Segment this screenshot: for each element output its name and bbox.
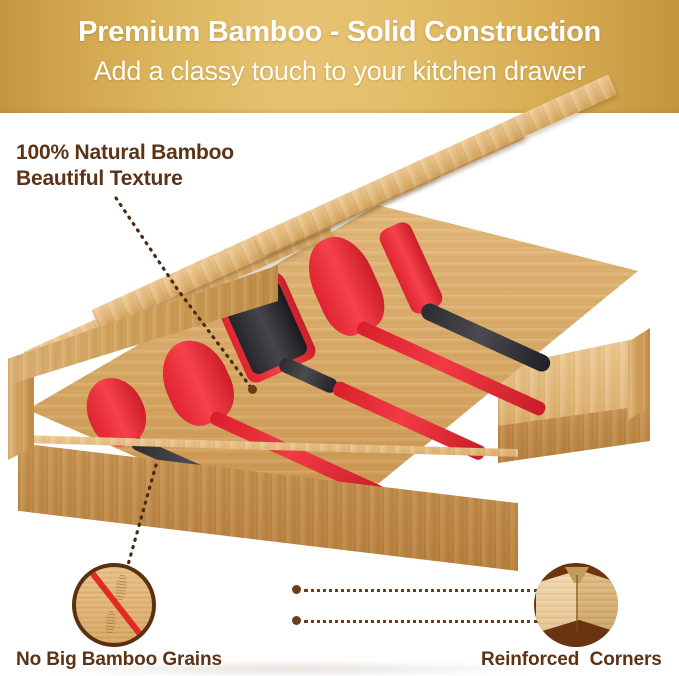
banner-title: Premium Bamboo - Solid Construction	[0, 17, 679, 49]
leader-line-corner-top	[292, 585, 542, 595]
label-reinforced-corners: Reinforced Corners	[481, 648, 662, 671]
product-marketing-image: Premium Bamboo - Solid Construction Add …	[0, 0, 679, 676]
callout-circle-no-big-grains	[72, 563, 156, 647]
leader-start-dot-corner-bottom	[292, 616, 301, 625]
leader-dashes-corner-top	[304, 589, 538, 592]
bamboo-grain-mark-2	[105, 611, 116, 636]
leader-line-no-grains-svg	[0, 113, 679, 583]
banner-subtitle: Add a classy touch to your kitchen drawe…	[0, 57, 679, 87]
corner-vertical-seam	[576, 575, 578, 633]
bamboo-grain-mark-1	[114, 574, 128, 601]
leader-line-corner-bottom	[292, 616, 542, 626]
leader-line-no-grains	[0, 113, 679, 583]
leader-dashes-corner-bottom	[304, 620, 538, 623]
label-no-big-bamboo-grains: No Big Bamboo Grains	[16, 648, 222, 671]
callout-circle-reinforced-corner	[534, 563, 618, 647]
leader-start-dot-corner-top	[292, 585, 301, 594]
product-photo-bamboo-drawer-organizer	[0, 113, 679, 583]
